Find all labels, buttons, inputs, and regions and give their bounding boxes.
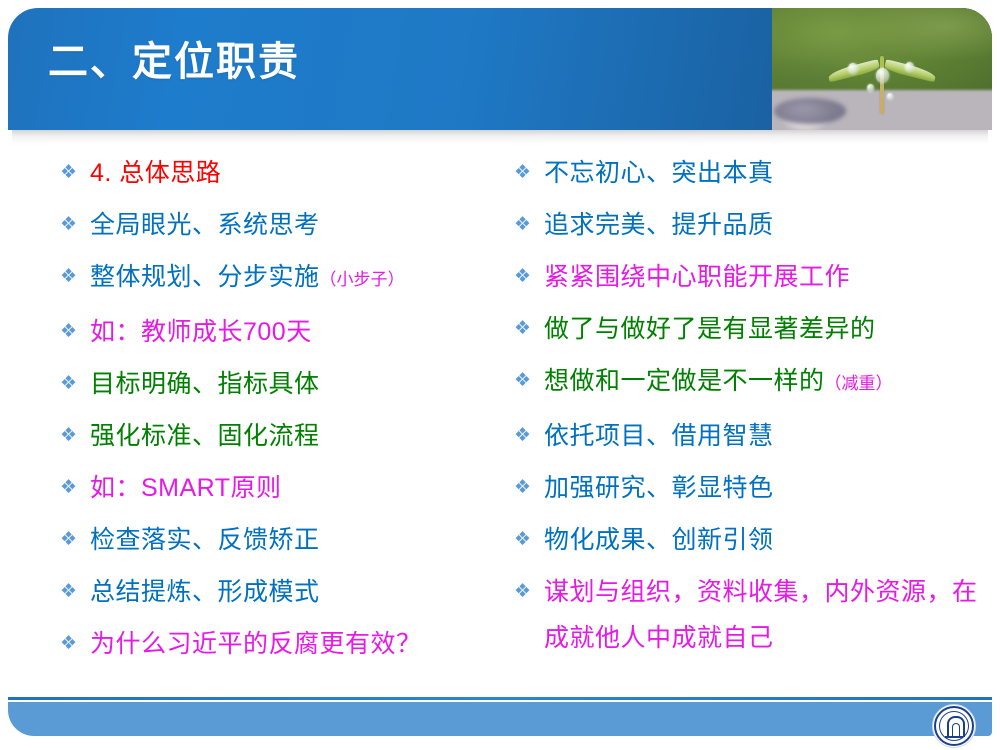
diamond-bullet-icon: ❖ <box>512 465 544 511</box>
seal-gate-shape <box>947 716 965 737</box>
diamond-bullet-icon: ❖ <box>512 358 544 404</box>
bullet-list-item: ❖4. 总体思路 <box>58 150 498 196</box>
bullet-column-left: ❖4. 总体思路❖全局眼光、系统思考❖整体规划、分步实施（小步子）❖如：教师成长… <box>58 150 498 673</box>
bullet-text: 总结提炼、形成模式 <box>90 569 498 615</box>
bullet-list-item: ❖想做和一定做是不一样的（减重） <box>512 358 982 407</box>
bullet-list-item: ❖谋划与组织，资料收集，内外资源，在成就他人中成就自己 <box>512 569 982 661</box>
bullet-text: 强化标准、固化流程 <box>90 413 498 459</box>
bullet-text: 谋划与组织，资料收集，内外资源，在成就他人中成就自己 <box>544 569 982 661</box>
bullet-text: 如：SMART原则 <box>90 465 498 511</box>
bullet-text: 4. 总体思路 <box>90 150 498 196</box>
bullet-list-item: ❖依托项目、借用智慧 <box>512 413 982 459</box>
bullet-annotation: （减重） <box>825 374 893 393</box>
seal-icon <box>934 706 974 746</box>
bullet-column-right: ❖不忘初心、突出本真❖追求完美、提升品质❖紧紧围绕中心职能开展工作❖做了与做好了… <box>512 150 982 667</box>
diamond-bullet-icon: ❖ <box>512 569 544 615</box>
bullet-text: 如：教师成长700天 <box>90 309 498 355</box>
bullet-list-item: ❖紧紧围绕中心职能开展工作 <box>512 254 982 300</box>
bullet-list-item: ❖如：教师成长700天 <box>58 309 498 355</box>
header-drop-shadow <box>12 130 988 144</box>
bullet-list-item: ❖检查落实、反馈矫正 <box>58 517 498 563</box>
bullet-text: 目标明确、指标具体 <box>90 361 498 407</box>
bullet-text: 为什么习近平的反腐更有效？ <box>90 621 498 667</box>
diamond-bullet-icon: ❖ <box>58 309 90 355</box>
footer-bar <box>8 702 992 736</box>
slide-header: 二、定位职责 <box>8 8 992 130</box>
diamond-bullet-icon: ❖ <box>512 254 544 300</box>
seal-base-shape <box>945 736 963 738</box>
bullet-text: 不忘初心、突出本真 <box>544 150 982 196</box>
footer-divider-line <box>8 697 992 700</box>
bullet-text: 做了与做好了是有显著差异的 <box>544 306 982 352</box>
bullet-list-item: ❖整体规划、分步实施（小步子） <box>58 254 498 303</box>
dew-drop <box>876 68 889 83</box>
bullet-text: 依托项目、借用智慧 <box>544 413 982 459</box>
diamond-bullet-icon: ❖ <box>58 465 90 511</box>
diamond-bullet-icon: ❖ <box>512 413 544 459</box>
bullet-list-item: ❖为什么习近平的反腐更有效？ <box>58 621 498 667</box>
diamond-bullet-icon: ❖ <box>512 517 544 563</box>
bullet-list-item: ❖不忘初心、突出本真 <box>512 150 982 196</box>
dew-drop <box>905 62 914 72</box>
bullet-annotation: （小步子） <box>320 270 405 289</box>
bullet-text: 想做和一定做是不一样的（减重） <box>544 358 982 407</box>
university-seal-logo <box>932 704 976 748</box>
diamond-bullet-icon: ❖ <box>58 254 90 300</box>
photo-dark-pebble <box>774 98 846 124</box>
bullet-list-item: ❖全局眼光、系统思考 <box>58 202 498 248</box>
diamond-bullet-icon: ❖ <box>58 150 90 196</box>
diamond-bullet-icon: ❖ <box>58 361 90 407</box>
diamond-bullet-icon: ❖ <box>512 306 544 352</box>
dew-drop <box>848 63 858 74</box>
bullet-list-item: ❖物化成果、创新引领 <box>512 517 982 563</box>
diamond-bullet-icon: ❖ <box>58 569 90 615</box>
bullet-text: 追求完美、提升品质 <box>544 202 982 248</box>
dew-drop <box>887 93 893 100</box>
seedling-photo <box>772 8 992 130</box>
bullet-list-item: ❖做了与做好了是有显著差异的 <box>512 306 982 352</box>
slide-canvas: 二、定位职责 ❖4. 总体思路❖全局眼光、系统思考❖整体规划、分步实施（小步子）… <box>0 0 1000 750</box>
sprout-stem <box>880 56 884 114</box>
diamond-bullet-icon: ❖ <box>512 202 544 248</box>
diamond-bullet-icon: ❖ <box>58 202 90 248</box>
bullet-text: 检查落实、反馈矫正 <box>90 517 498 563</box>
diamond-bullet-icon: ❖ <box>512 150 544 196</box>
bullet-list-item: ❖强化标准、固化流程 <box>58 413 498 459</box>
bullet-list-item: ❖目标明确、指标具体 <box>58 361 498 407</box>
bullet-list-item: ❖加强研究、彰显特色 <box>512 465 982 511</box>
bullet-list-item: ❖如：SMART原则 <box>58 465 498 511</box>
slide-body: ❖4. 总体思路❖全局眼光、系统思考❖整体规划、分步实施（小步子）❖如：教师成长… <box>0 150 1000 695</box>
diamond-bullet-icon: ❖ <box>58 517 90 563</box>
bullet-text: 物化成果、创新引领 <box>544 517 982 563</box>
diamond-bullet-icon: ❖ <box>58 413 90 459</box>
bullet-list-item: ❖追求完美、提升品质 <box>512 202 982 248</box>
bullet-text: 紧紧围绕中心职能开展工作 <box>544 254 982 300</box>
dew-drop <box>867 84 874 92</box>
bullet-text: 整体规划、分步实施（小步子） <box>90 254 498 303</box>
bullet-text: 加强研究、彰显特色 <box>544 465 982 511</box>
bullet-list-item: ❖总结提炼、形成模式 <box>58 569 498 615</box>
slide-title: 二、定位职责 <box>48 42 300 82</box>
diamond-bullet-icon: ❖ <box>58 621 90 667</box>
bullet-text: 全局眼光、系统思考 <box>90 202 498 248</box>
